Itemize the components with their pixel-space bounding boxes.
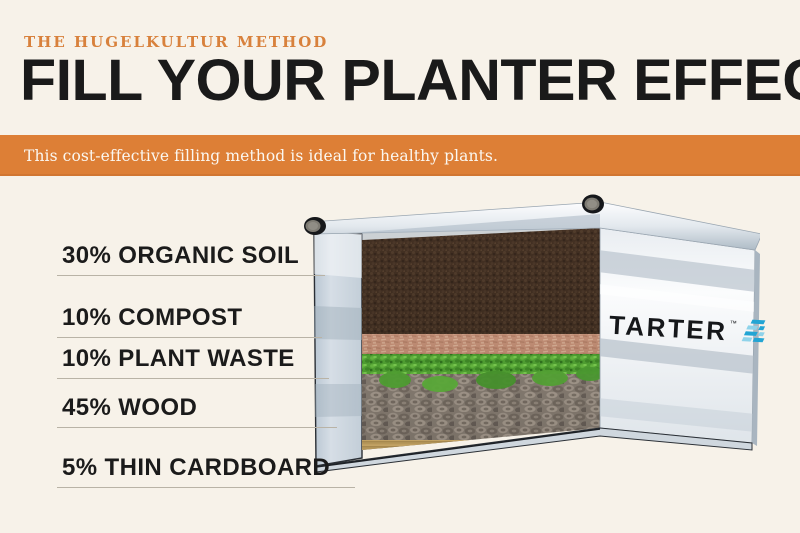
- leader-line-plant-waste: [57, 378, 329, 379]
- page-title: FILL YOUR PLANTER EFFECTIVELY: [20, 52, 800, 110]
- header: THE HUGELKULTUR METHOD FILL YOUR PLANTER…: [0, 0, 800, 135]
- leader-line-thin-cardboard: [57, 487, 355, 488]
- leader-line-compost: [57, 337, 322, 338]
- label-text-organic-soil: 30% ORGANIC SOIL: [62, 242, 299, 270]
- leader-line-wood: [57, 427, 337, 428]
- label-text-wood: 45% WOOD: [62, 394, 197, 422]
- subtitle-text: This cost-effective filling method is id…: [24, 147, 498, 165]
- layer-label-list: 30% ORGANIC SOIL 10% COMPOST 10% PLANT W…: [0, 176, 800, 533]
- label-text-thin-cardboard: 5% THIN CARDBOARD: [62, 454, 330, 482]
- label-row-organic-soil: 30% ORGANIC SOIL: [0, 236, 800, 276]
- label-text-compost: 10% COMPOST: [62, 304, 242, 332]
- label-row-wood: 45% WOOD: [0, 388, 800, 428]
- label-text-plant-waste: 10% PLANT WASTE: [62, 345, 295, 373]
- label-row-thin-cardboard: 5% THIN CARDBOARD: [0, 448, 800, 488]
- leader-line-organic-soil: [57, 275, 325, 276]
- label-row-plant-waste: 10% PLANT WASTE: [0, 339, 800, 379]
- label-row-compost: 10% COMPOST: [0, 298, 800, 338]
- infographic-canvas: THE HUGELKULTUR METHOD FILL YOUR PLANTER…: [0, 0, 800, 533]
